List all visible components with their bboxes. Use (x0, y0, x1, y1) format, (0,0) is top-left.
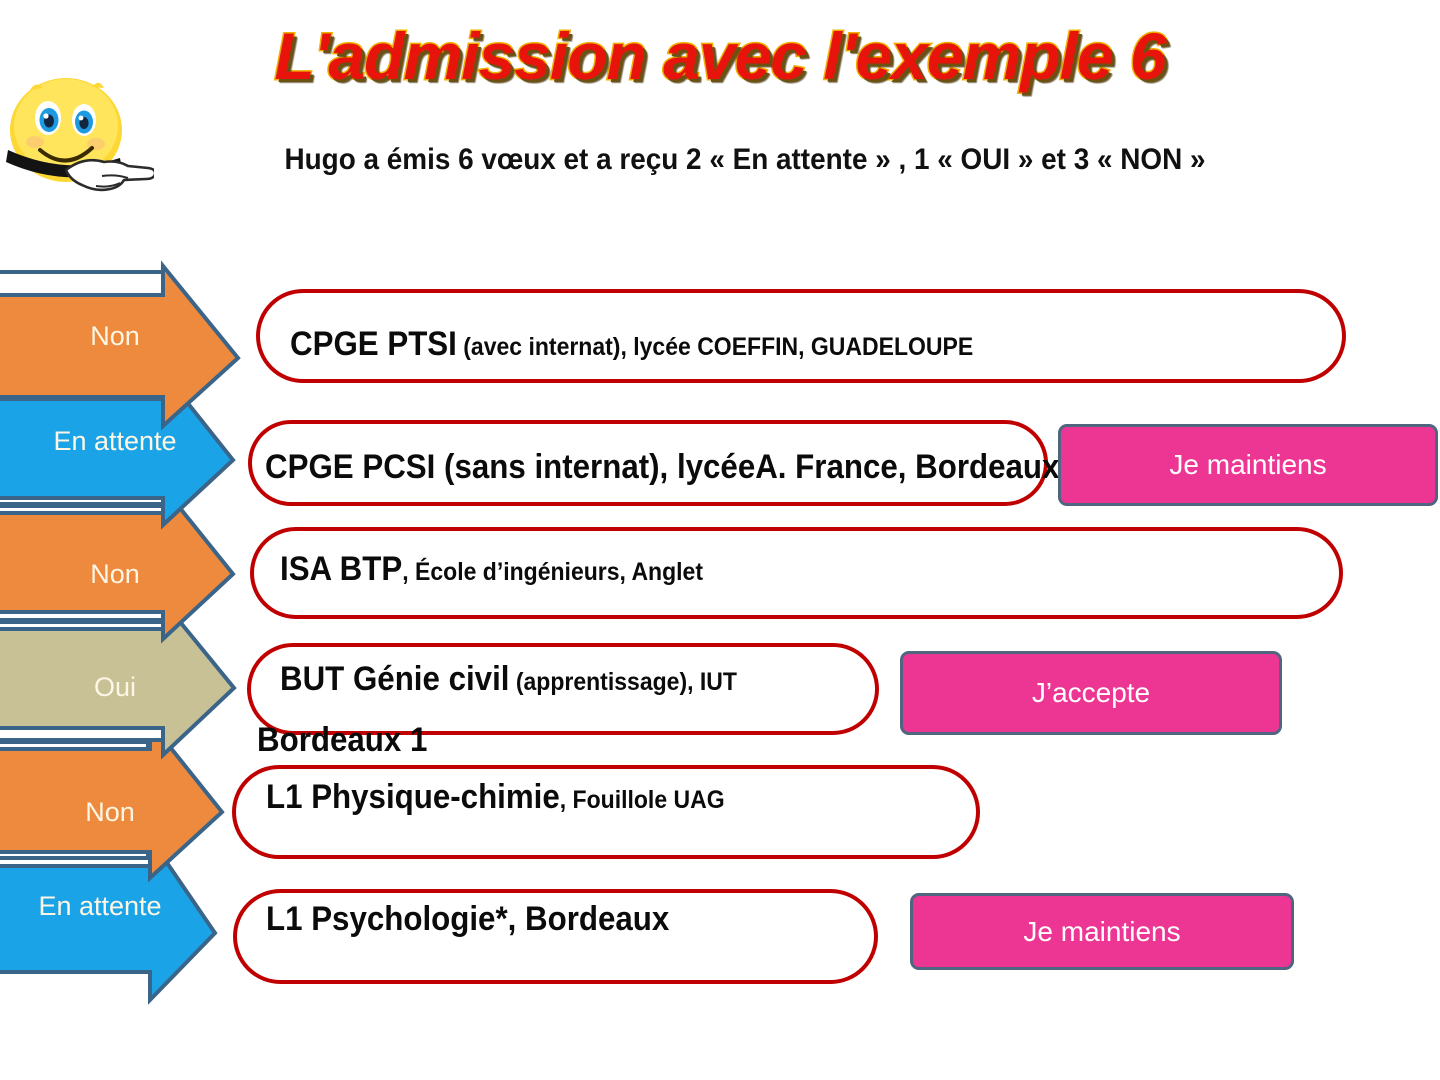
decision-arrow-6[interactable] (0, 838, 215, 1000)
wish-main-1: CPGE PTSI (290, 325, 457, 363)
wish-main-5: L1 Physique-chimie (266, 778, 560, 816)
subtitle-text: Hugo a émis 6 vœux et a reçu 2 « En atte… (247, 138, 1242, 182)
wish-rest-4: (apprentissage), IUT (509, 668, 736, 696)
decision-arrow-4[interactable] (0, 601, 234, 755)
wish-text-2: CPGE PCSI (sans internat), lycéeA. Franc… (265, 448, 1059, 487)
wish-main-2: CPGE PCSI (sans internat), lycéeA. Franc… (265, 448, 1059, 486)
wish-text-1: CPGE PTSI (avec internat), lycée COEFFIN… (290, 325, 973, 364)
wish-main-4: BUT Génie civil (280, 660, 509, 698)
wish-text-4: BUT Génie civil (apprentissage), IUT (280, 660, 737, 699)
wish-rest-5: , Fouillole UAG (560, 786, 725, 814)
wish-main-3: ISA BTP (280, 550, 402, 588)
wish-text-3: ISA BTP, École d’ingénieurs, Anglet (280, 550, 703, 589)
wish-rest-1: (avec internat), lycée COEFFIN, GUADELOU… (457, 333, 973, 361)
decision-arrow-3[interactable] (0, 487, 233, 639)
wish-overflow-4: Bordeaux 1 (257, 721, 427, 760)
wish-text-6: L1 Psychologie*, Bordeaux (266, 900, 669, 939)
action-button-2[interactable]: Je maintiens (1058, 424, 1438, 506)
wish-main-6: L1 Psychologie*, Bordeaux (266, 900, 669, 938)
decision-arrow-5[interactable] (0, 722, 222, 878)
action-button-6[interactable]: Je maintiens (910, 893, 1294, 970)
wish-rest-3: , École d’ingénieurs, Anglet (402, 558, 703, 586)
wish-text-5: L1 Physique-chimie, Fouillole UAG (266, 778, 725, 817)
action-button-4[interactable]: J’accepte (900, 651, 1282, 735)
